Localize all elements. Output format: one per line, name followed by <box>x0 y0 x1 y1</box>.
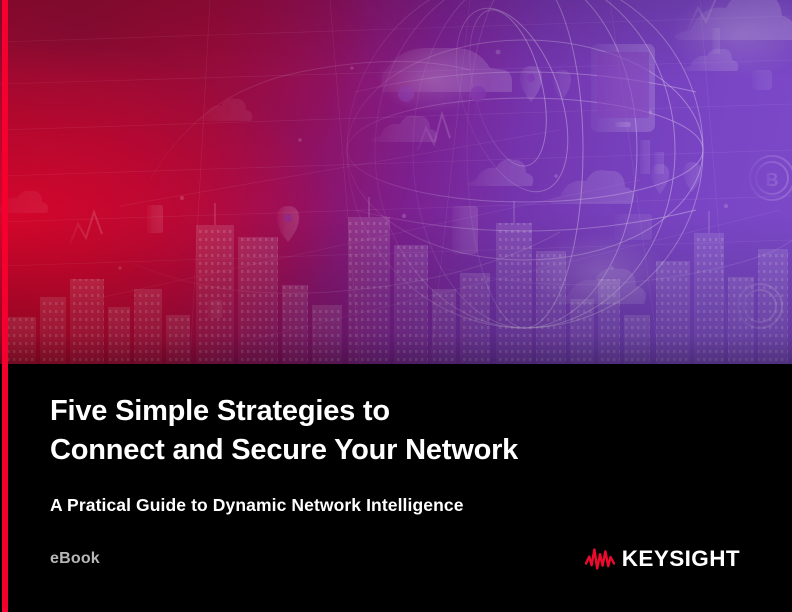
keysight-waveform-icon <box>585 548 615 570</box>
document-type-label: eBook <box>50 550 100 568</box>
page-subtitle: A Pratical Guide to Dynamic Network Inte… <box>50 495 750 516</box>
page-title: Five Simple Strategies to Connect and Se… <box>50 392 750 470</box>
left-accent-bar <box>2 0 8 612</box>
keysight-logo: KEYSIGHT <box>585 548 740 571</box>
cover-content: Five Simple Strategies to Connect and Se… <box>0 364 792 612</box>
ebook-cover-page: B <box>0 0 792 612</box>
keysight-wordmark: KEYSIGHT <box>622 548 740 571</box>
hero-banner: B <box>0 0 792 364</box>
hero-vignette <box>0 0 792 364</box>
